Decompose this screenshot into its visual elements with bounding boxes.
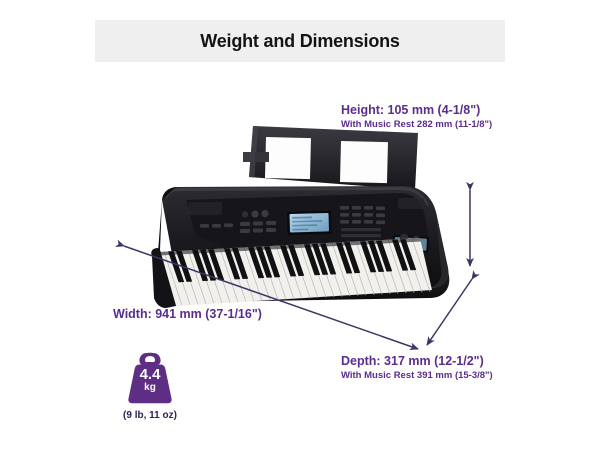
depth-annotation-sub: With Music Rest 391 mm (15-3/8") [341, 370, 493, 382]
lcd-screen [287, 211, 332, 235]
product-illustration [0, 0, 600, 450]
weight-icon-wrap: 4.4 kg [122, 348, 178, 406]
weight-badge: 4.4 kg (9 lb, 11 oz) [104, 348, 196, 421]
keyboard-body [162, 186, 449, 302]
control-panel-buttons [200, 206, 420, 244]
weight-unit: kg [122, 383, 178, 393]
width-annotation: Width: 941 mm (37-1/16") [113, 307, 262, 323]
keybed [158, 238, 432, 306]
height-annotation-main: Height: 105 mm (4-1/8") [341, 103, 492, 119]
weight-value: 4.4 [122, 367, 178, 382]
width-arrow [124, 246, 418, 349]
depth-annotation-main: Depth: 317 mm (12-1/2") [341, 354, 493, 370]
page-title: Weight and Dimensions [200, 31, 400, 52]
depth-arrow [427, 279, 472, 345]
dimensions-infographic: Weight and Dimensions [0, 0, 600, 450]
speaker-grille [188, 198, 424, 215]
width-annotation-main: Width: 941 mm (37-1/16") [113, 307, 262, 323]
weight-imperial: (9 lb, 11 oz) [104, 410, 196, 421]
height-annotation-sub: With Music Rest 282 mm (11-1/8") [341, 119, 492, 131]
right-panel-display [392, 235, 429, 253]
header-band: Weight and Dimensions [95, 20, 505, 62]
black-keys [168, 239, 416, 282]
height-annotation: Height: 105 mm (4-1/8") With Music Rest … [341, 103, 492, 131]
depth-annotation: Depth: 317 mm (12-1/2") With Music Rest … [341, 354, 493, 382]
music-rest [243, 126, 418, 190]
